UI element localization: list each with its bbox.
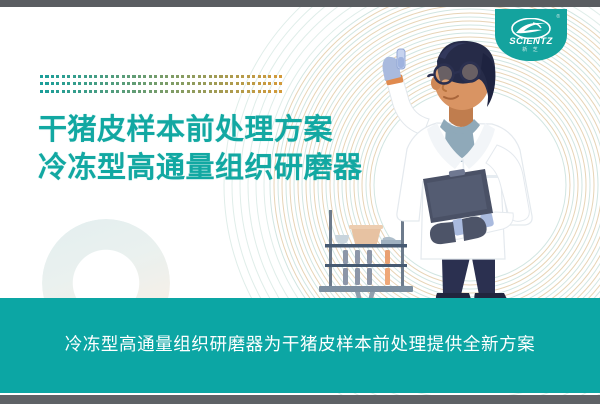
logo-chinese-text: 新 芝 [495, 46, 567, 53]
grid-dot [258, 82, 261, 85]
grid-dot [116, 90, 119, 93]
grid-dot [111, 75, 114, 78]
grid-dot [105, 75, 108, 78]
grid-dot [198, 82, 201, 85]
grid-dot [187, 82, 190, 85]
grid-dot [176, 75, 179, 78]
grid-dot [263, 75, 266, 78]
grid-dot [122, 82, 125, 85]
grid-dot [225, 75, 228, 78]
grid-dot [116, 82, 119, 85]
grid-dot [225, 82, 228, 85]
grid-dot [225, 90, 228, 93]
grid-dot [230, 82, 233, 85]
grid-dot [219, 90, 222, 93]
grid-dot [127, 82, 130, 85]
grid-dot [154, 82, 157, 85]
banner-text: 冷冻型高通量组织研磨器为干猪皮样本前处理提供全新方案 [0, 331, 600, 360]
grid-dot [94, 82, 97, 85]
grid-dot [171, 82, 174, 85]
grid-dot [73, 82, 76, 85]
grid-dot [209, 82, 212, 85]
grid-dot [209, 90, 212, 93]
grid-dot [56, 82, 59, 85]
grid-dot [51, 82, 54, 85]
grid-dot [40, 90, 43, 93]
grid-dot [78, 75, 81, 78]
grid-dot [268, 82, 271, 85]
grid-dot [252, 90, 255, 93]
grid-dot [89, 90, 92, 93]
grid-dot [67, 90, 70, 93]
grid-dot [241, 90, 244, 93]
grid-dot [198, 90, 201, 93]
grid-dot [122, 75, 125, 78]
poster-artboard: 干猪皮样本前处理方案 冷冻型高通量组织研磨器 [0, 7, 600, 395]
grid-dot [241, 82, 244, 85]
grid-dot [236, 82, 239, 85]
grid-dot [67, 82, 70, 85]
grid-dot [209, 75, 212, 78]
registered-mark-icon: ® [556, 14, 560, 20]
viewer-top-bar [0, 0, 600, 7]
grid-dot [40, 75, 43, 78]
grid-dot [84, 90, 87, 93]
grid-dot [111, 82, 114, 85]
grid-dot [274, 82, 277, 85]
grid-dot [263, 82, 266, 85]
grid-dot [67, 75, 70, 78]
grid-dot [100, 75, 103, 78]
grid-dot [192, 75, 195, 78]
grid-dot [132, 90, 135, 93]
grid-dot [138, 75, 141, 78]
grid-dot [127, 90, 130, 93]
grid-dot [203, 82, 206, 85]
grid-dot [187, 75, 190, 78]
grid-dot [143, 82, 146, 85]
grid-dot [214, 90, 217, 93]
grid-dot [279, 82, 282, 85]
grid-dot [56, 90, 59, 93]
grid-dot [165, 75, 168, 78]
grid-dot [247, 82, 250, 85]
grid-dot [149, 75, 152, 78]
grid-dot [198, 75, 201, 78]
grid-dot [160, 82, 163, 85]
grid-dot [171, 90, 174, 93]
headline-block: 干猪皮样本前处理方案 冷冻型高通量组织研磨器 [38, 111, 363, 187]
grid-dot [105, 82, 108, 85]
grid-dot [160, 90, 163, 93]
grid-dot [94, 90, 97, 93]
grid-dot [268, 75, 271, 78]
grid-dot [203, 75, 206, 78]
grid-dot [176, 90, 179, 93]
grid-dot [132, 75, 135, 78]
grid-dot [154, 75, 157, 78]
grid-dot [62, 75, 65, 78]
grid-dot [252, 75, 255, 78]
grid-dot [100, 82, 103, 85]
scientist-illustration [345, 27, 600, 312]
grid-dot [165, 90, 168, 93]
scientist-svg [345, 27, 600, 312]
grid-dot [258, 90, 261, 93]
grid-dot [181, 90, 184, 93]
grid-dot [274, 75, 277, 78]
company-logo[interactable]: ® SCIENTZ 新 芝 [495, 9, 567, 61]
grid-dot [230, 75, 233, 78]
grid-dot [203, 90, 206, 93]
grid-dot [154, 90, 157, 93]
grid-dot [127, 75, 130, 78]
grid-dot [56, 75, 59, 78]
grid-dot [192, 90, 195, 93]
headline-line-1: 干猪皮样本前处理方案 [38, 111, 363, 149]
grid-dot [51, 90, 54, 93]
grid-dot [143, 75, 146, 78]
grid-dot [84, 75, 87, 78]
grid-dot [258, 75, 261, 78]
grid-dot [132, 82, 135, 85]
grid-dot [247, 90, 250, 93]
grid-dot [78, 82, 81, 85]
headline-line-2: 冷冻型高通量组织研磨器 [38, 149, 363, 187]
grid-dot [116, 75, 119, 78]
grid-dot [219, 75, 222, 78]
grid-dot [279, 75, 282, 78]
bottom-banner: 冷冻型高通量组织研磨器为干猪皮样本前处理提供全新方案 [0, 298, 600, 393]
grid-dot [181, 75, 184, 78]
grid-dot [149, 82, 152, 85]
grid-dot [192, 82, 195, 85]
grid-dot [247, 75, 250, 78]
grid-dot [274, 90, 277, 93]
grid-dot [236, 75, 239, 78]
grid-dot [138, 90, 141, 93]
grid-dot [62, 82, 65, 85]
grid-dot [143, 90, 146, 93]
grid-dot [236, 90, 239, 93]
grid-dot [89, 75, 92, 78]
viewer-bottom-bar [0, 395, 600, 404]
grid-dot [241, 75, 244, 78]
grid-dot [263, 90, 266, 93]
grid-dot [214, 82, 217, 85]
grid-dot [73, 75, 76, 78]
grid-dot [165, 82, 168, 85]
grid-dot [176, 82, 179, 85]
grid-dot [122, 90, 125, 93]
grid-dot [84, 82, 87, 85]
grid-dot [149, 90, 152, 93]
grid-dot [171, 75, 174, 78]
grid-dot [252, 82, 255, 85]
poster-root: 干猪皮样本前处理方案 冷冻型高通量组织研磨器 [0, 0, 600, 404]
dot-grid-decoration [40, 75, 285, 97]
grid-dot [214, 75, 217, 78]
grid-dot [62, 90, 65, 93]
grid-dot [89, 82, 92, 85]
grid-dot [51, 75, 54, 78]
grid-dot [45, 82, 48, 85]
grid-dot [73, 90, 76, 93]
grid-dot [105, 90, 108, 93]
grid-dot [219, 82, 222, 85]
grid-dot [268, 90, 271, 93]
grid-dot [187, 90, 190, 93]
grid-dot [138, 82, 141, 85]
grid-dot [279, 90, 282, 93]
grid-dot [78, 90, 81, 93]
grid-dot [100, 90, 103, 93]
grid-dot [45, 90, 48, 93]
grid-dot [181, 82, 184, 85]
grid-dot [160, 75, 163, 78]
grid-dot [40, 82, 43, 85]
grid-dot [94, 75, 97, 78]
grid-dot [230, 90, 233, 93]
grid-dot [45, 75, 48, 78]
grid-dot [111, 90, 114, 93]
